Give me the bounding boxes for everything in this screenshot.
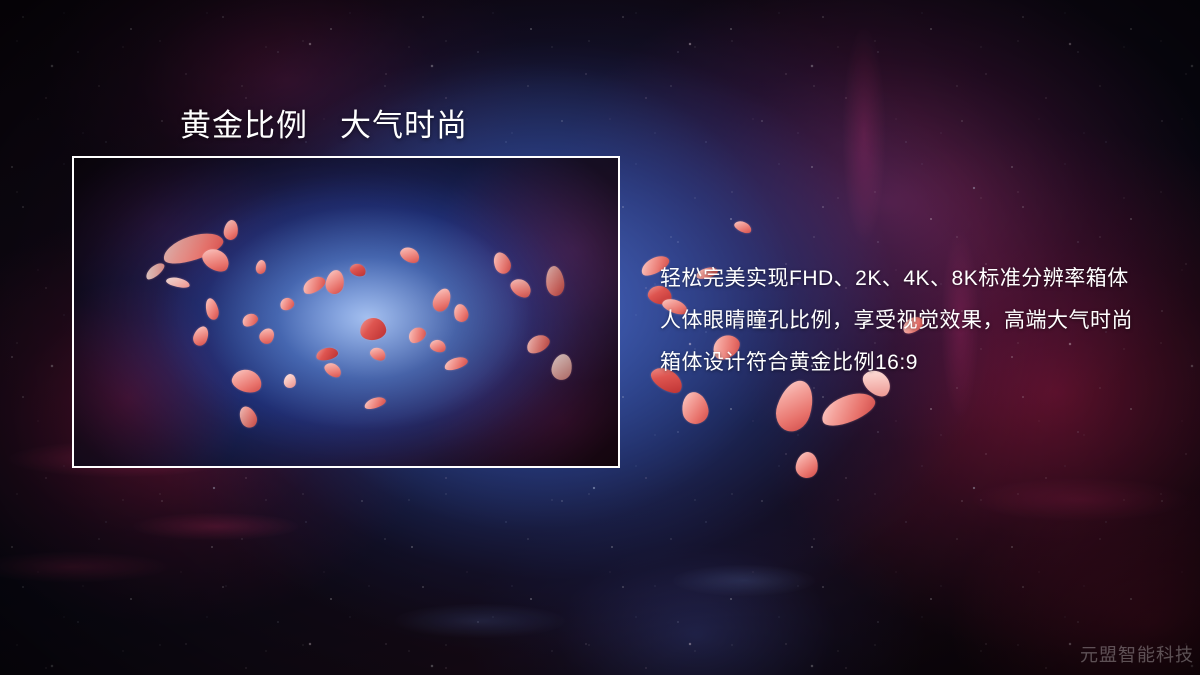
petal — [817, 386, 879, 431]
inner-image-vignette — [74, 158, 618, 466]
body-line: 箱体设计符合黄金比例16:9 — [660, 342, 1180, 384]
petal — [794, 451, 819, 480]
watermark: 元盟智能科技 — [1080, 641, 1194, 667]
petal — [733, 219, 754, 235]
image-frame — [72, 156, 620, 468]
petal — [771, 376, 819, 436]
page-title: 黄金比例 大气时尚 — [180, 100, 468, 145]
body-line: 人体眼睛瞳孔比例，享受视觉效果，高端大气时尚 — [660, 300, 1180, 342]
body-text-block: 轻松完美实现FHD、2K、4K、8K标准分辨率箱体 人体眼睛瞳孔比例，享受视觉效… — [660, 258, 1180, 384]
petal — [679, 390, 710, 426]
body-line: 轻松完美实现FHD、2K、4K、8K标准分辨率箱体 — [660, 258, 1180, 300]
presentation-slide: 黄金比例 大气时尚 — [0, 0, 1200, 675]
